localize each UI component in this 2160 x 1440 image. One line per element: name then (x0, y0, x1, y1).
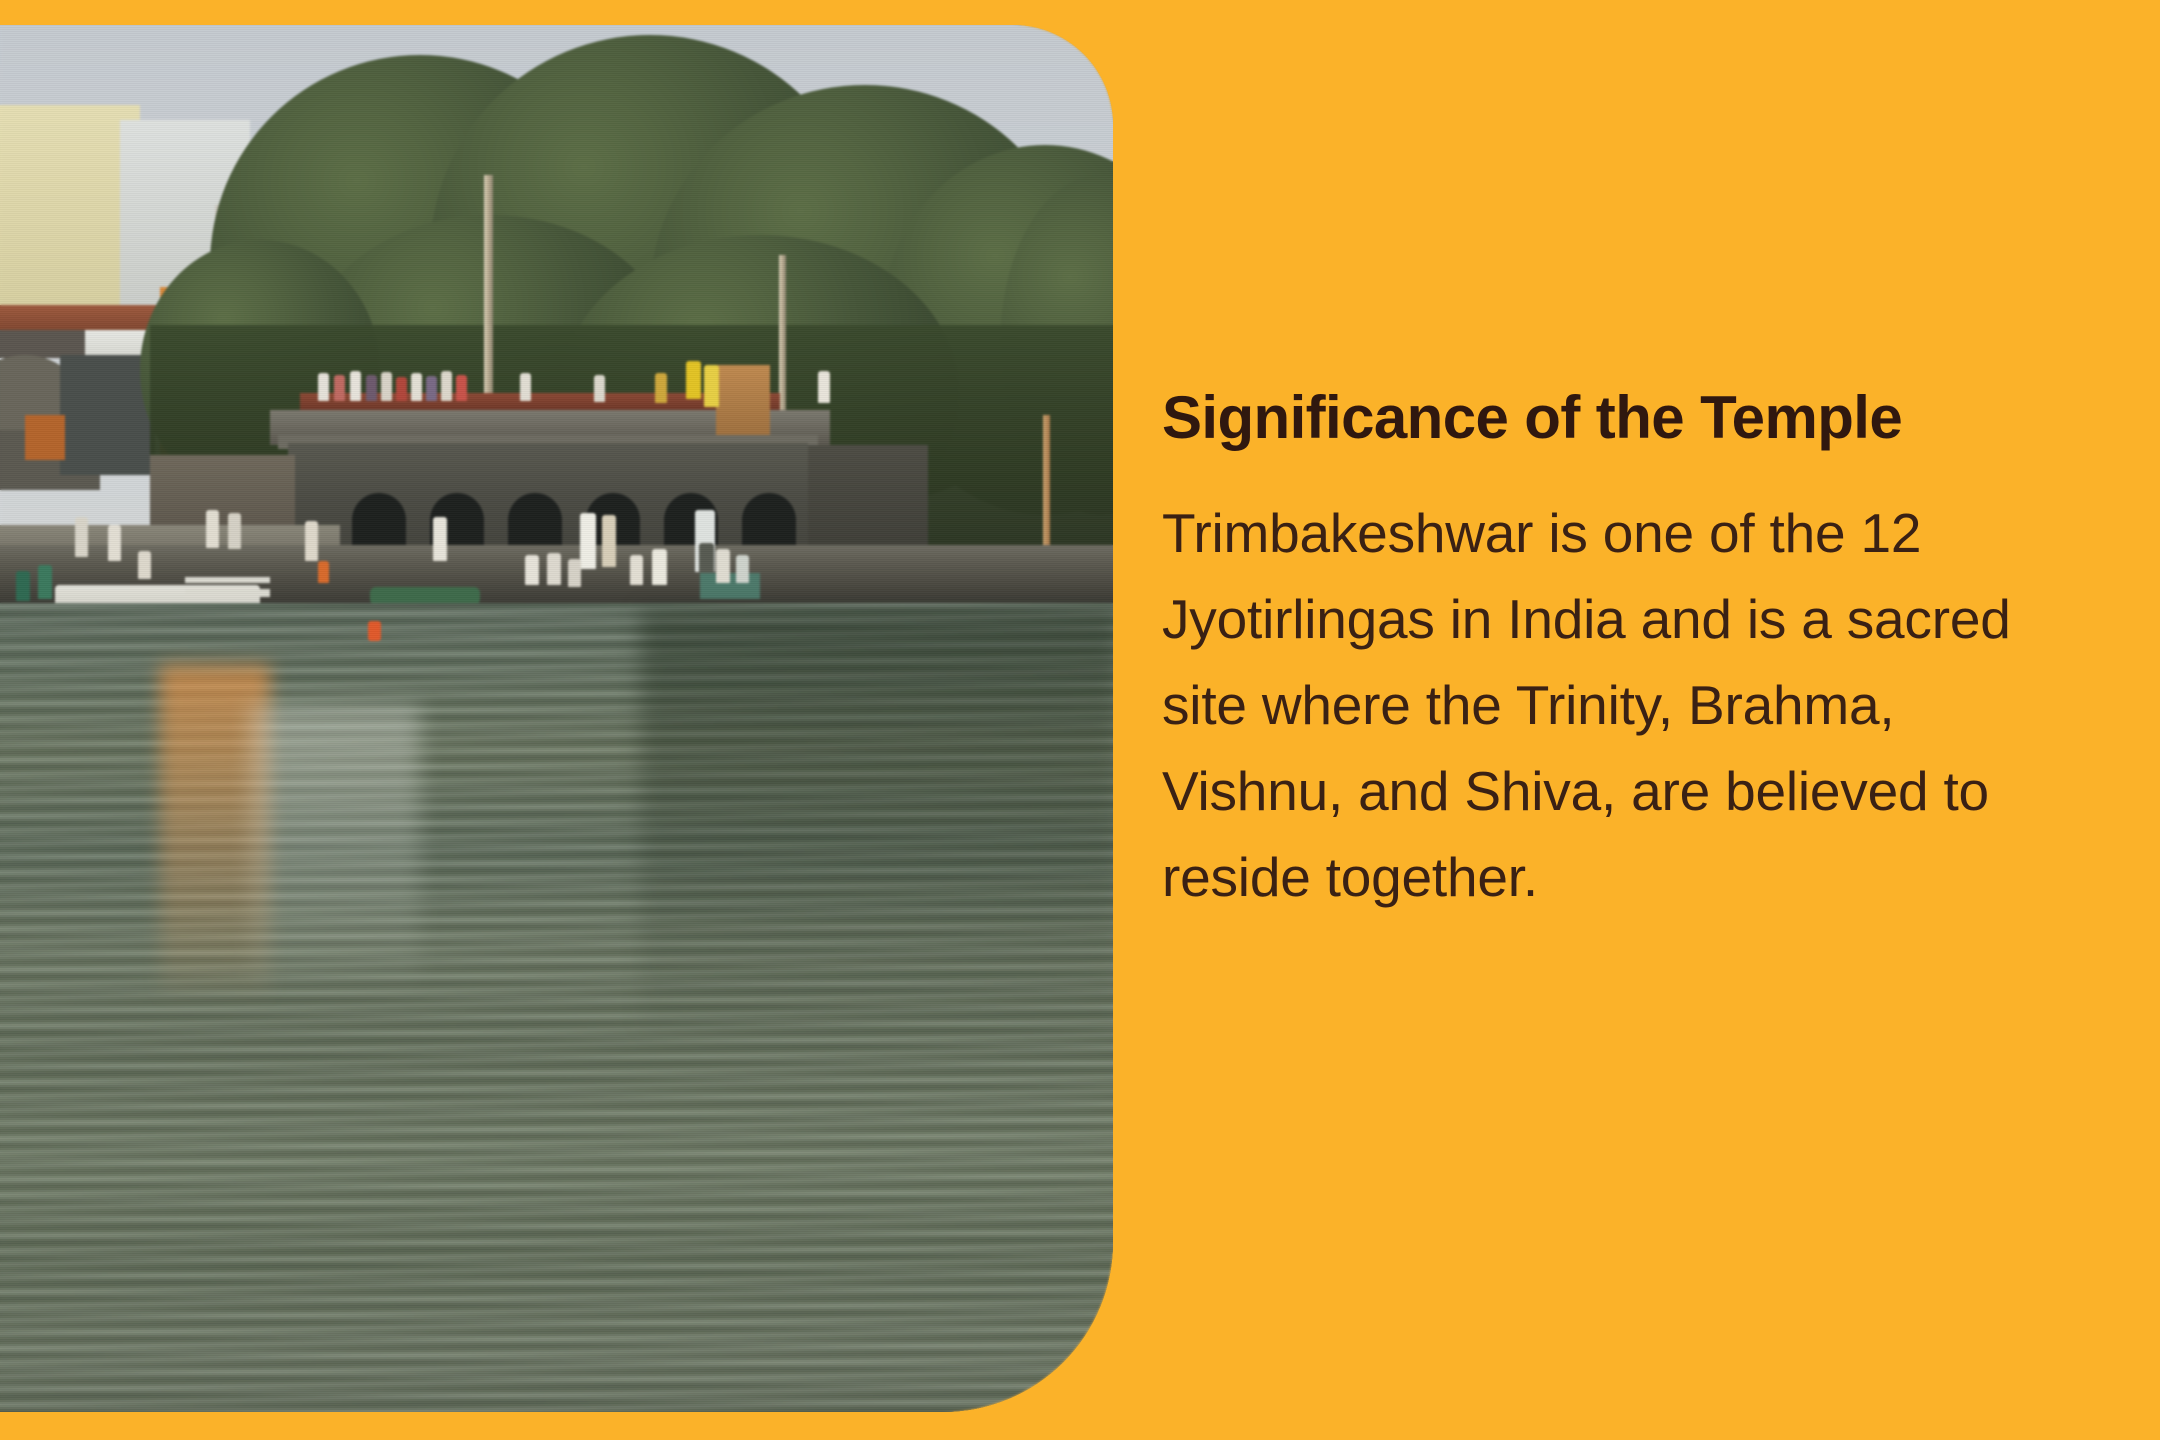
slide-root: Significance of the Temple Trimbakeshwar… (0, 0, 2160, 1440)
pilgrim (305, 521, 318, 561)
pilgrim (138, 551, 151, 579)
pilgrim (16, 571, 30, 601)
pilgrim (630, 555, 643, 585)
photo-content (0, 25, 1113, 1412)
pilgrim (736, 555, 749, 583)
section-paragraph: Trimbakeshwar is one of the 12 Jyotirlin… (1162, 490, 2087, 920)
pilgrim (686, 361, 701, 399)
pilgrim (411, 373, 422, 401)
pilgrim (568, 559, 581, 587)
pilgrim (318, 561, 329, 583)
building-pale-left (0, 105, 140, 335)
pilgrim (456, 375, 467, 401)
platform-railing (185, 577, 270, 597)
pilgrim (652, 549, 667, 585)
pilgrim (818, 371, 830, 403)
pilgrim (426, 376, 437, 401)
pilgrim (547, 553, 561, 585)
orange-buoy (368, 621, 381, 641)
pilgrim (602, 515, 616, 567)
pale-reflection (250, 705, 420, 985)
tree-reflection (640, 610, 1113, 1030)
pilgrim (433, 517, 447, 561)
pilgrim (108, 525, 121, 561)
pilgrim (38, 565, 52, 599)
pilgrim (525, 555, 539, 585)
pilgrim (206, 510, 219, 548)
temple-photo (0, 25, 1113, 1412)
teal-structure (700, 573, 760, 599)
section-heading: Significance of the Temple (1162, 385, 1902, 451)
pilgrim (381, 372, 392, 401)
pilgrim (704, 365, 719, 407)
orange-small-wall (25, 415, 65, 460)
pilgrim (594, 375, 605, 402)
pilgrim (318, 373, 329, 401)
pilgrim (580, 513, 596, 569)
pilgrim (655, 373, 667, 403)
pilgrim (699, 543, 714, 573)
pilgrim (366, 375, 377, 401)
pilgrim (396, 377, 407, 401)
pilgrim (716, 549, 730, 583)
pilgrim (228, 513, 241, 549)
pilgrim (350, 371, 361, 401)
pilgrim (334, 375, 345, 401)
text-panel: Significance of the Temple Trimbakeshwar… (1162, 0, 2092, 1440)
pilgrim (75, 517, 88, 557)
pilgrim (441, 371, 452, 401)
pilgrim (520, 373, 531, 401)
